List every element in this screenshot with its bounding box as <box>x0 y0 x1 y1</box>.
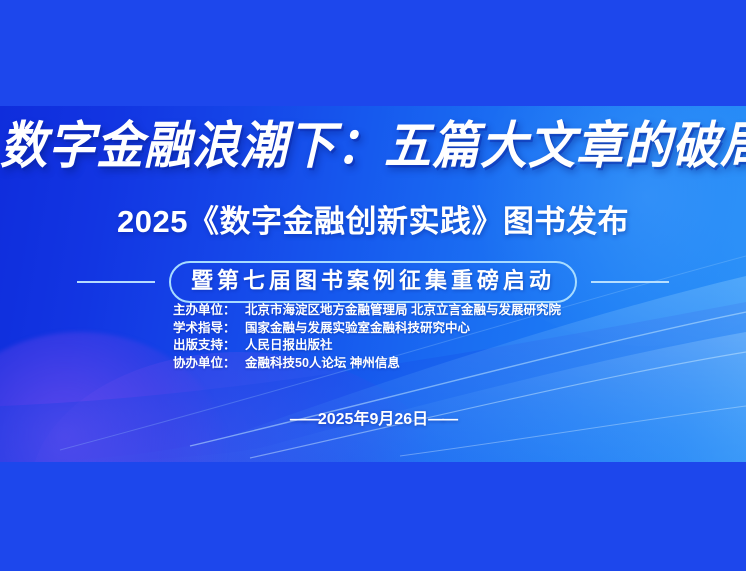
credit-row-co-organizer: 协办单位：金融科技50人论坛 神州信息 <box>173 355 573 373</box>
credit-value-organizer: 北京市海淀区地方金融管理局 北京立言金融与发展研究院 <box>245 303 561 317</box>
date-dash-left: —— <box>290 411 318 428</box>
credit-row-academic-guidance: 学术指导：国家金融与发展实验室金融科技研究中心 <box>173 320 573 338</box>
credit-value-publishing-support: 人民日报出版社 <box>245 338 333 352</box>
credit-key-organizer: 主办单位： <box>173 302 245 320</box>
credit-key-academic-guidance: 学术指导： <box>173 320 245 338</box>
poster-screen: 数字金融浪潮下：五篇大文章的破局与重构 2025《数字金融创新实践》图书发布 暨… <box>0 0 746 571</box>
credit-row-organizer: 主办单位：北京市海淀区地方金融管理局 北京立言金融与发展研究院 <box>173 302 573 320</box>
credits-block: 主办单位：北京市海淀区地方金融管理局 北京立言金融与发展研究院 学术指导：国家金… <box>0 302 746 372</box>
date-dash-right: —— <box>428 411 456 428</box>
poster-content: 数字金融浪潮下：五篇大文章的破局与重构 2025《数字金融创新实践》图书发布 暨… <box>0 106 746 462</box>
event-date-row: ——2025年9月26日—— <box>0 405 746 429</box>
rule-right-decoration <box>591 281 669 283</box>
poster-artwork: 数字金融浪潮下：五篇大文章的破局与重构 2025《数字金融创新实践》图书发布 暨… <box>0 106 746 462</box>
credit-row-publishing-support: 出版支持：人民日报出版社 <box>173 337 573 355</box>
poster-subtitle: 2025《数字金融创新实践》图书发布 <box>0 206 746 237</box>
pill-banner-row: 暨第七届图书案例征集重磅启动 <box>0 261 746 303</box>
credit-value-academic-guidance: 国家金融与发展实验室金融科技研究中心 <box>245 321 470 335</box>
credit-value-co-organizer: 金融科技50人论坛 神州信息 <box>245 356 400 370</box>
credits-inner: 主办单位：北京市海淀区地方金融管理局 北京立言金融与发展研究院 学术指导：国家金… <box>173 302 573 372</box>
campaign-launch-badge: 暨第七届图书案例征集重磅启动 <box>169 261 577 303</box>
event-date: ——2025年9月26日—— <box>290 411 456 428</box>
page-title: 数字金融浪潮下：五篇大文章的破局与重构 <box>0 122 746 173</box>
top-color-band <box>0 0 746 106</box>
date-value: 2025年9月26日 <box>318 411 428 428</box>
credit-key-publishing-support: 出版支持： <box>173 337 245 355</box>
rule-left-decoration <box>77 281 155 283</box>
credit-key-co-organizer: 协办单位： <box>173 355 245 373</box>
bottom-color-band <box>0 462 746 571</box>
